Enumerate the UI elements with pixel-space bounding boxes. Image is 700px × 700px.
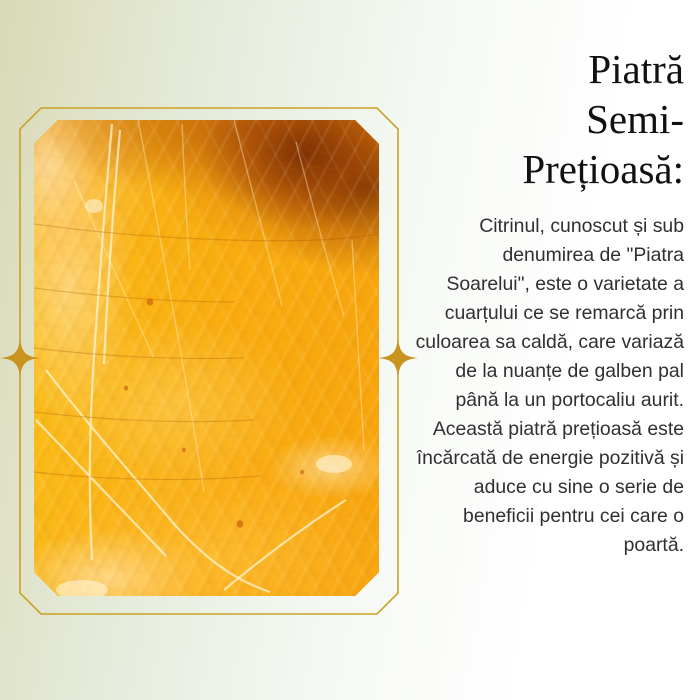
page-title: Piatră Semi- Prețioasă: — [414, 44, 684, 194]
title-line-3: Prețioasă: — [414, 144, 684, 194]
text-column: Piatră Semi- Prețioasă: Citrinul, cunosc… — [414, 44, 684, 560]
title-line-2: Semi- — [414, 94, 684, 144]
gem-fracture-lines — [34, 120, 379, 596]
title-line-1: Piatră — [414, 44, 684, 94]
poster-canvas: Piatră Semi- Prețioasă: Citrinul, cunosc… — [0, 0, 700, 700]
body-paragraph: Citrinul, cunoscut și sub denumirea de "… — [414, 212, 684, 560]
gem-image-panel — [34, 120, 379, 596]
right-sparkle-icon — [378, 338, 418, 378]
